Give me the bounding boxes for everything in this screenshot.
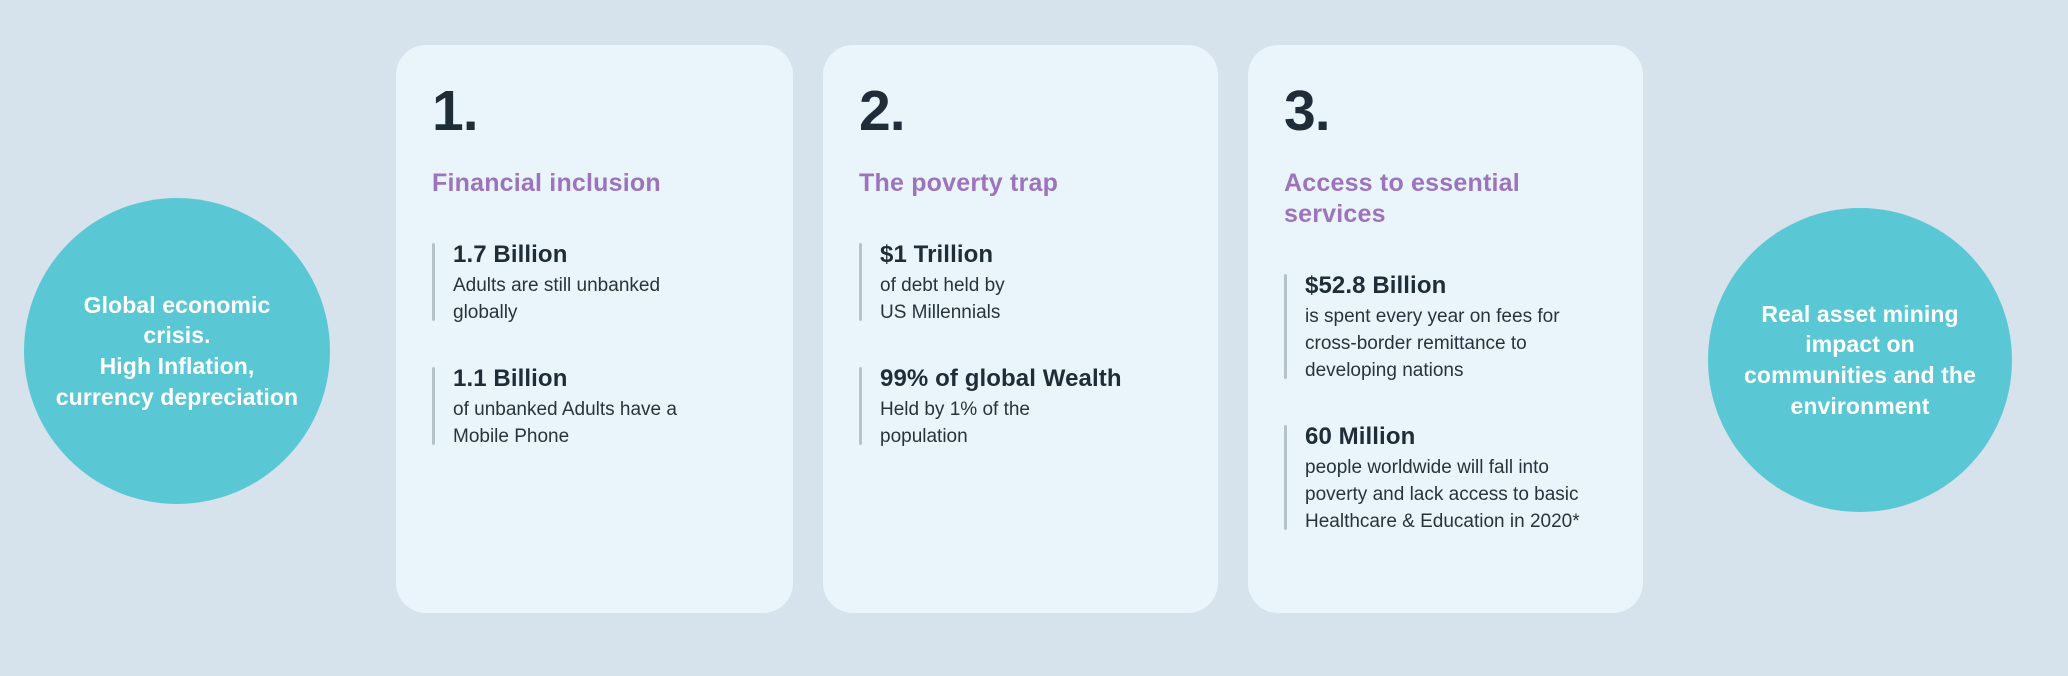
accent-rule bbox=[1284, 274, 1287, 379]
card-2-number: 2. bbox=[859, 83, 1182, 140]
card-1-stat-2-desc: of unbanked Adults have a Mobile Phone bbox=[453, 397, 757, 451]
accent-rule bbox=[859, 243, 862, 321]
problem-card-3[interactable]: 3. Access to essential services $52.8 Bi… bbox=[1248, 45, 1643, 613]
card-3-title: Access to essential services bbox=[1284, 168, 1607, 230]
card-1-stat-1-value: 1.7 Billion bbox=[453, 239, 757, 270]
card-3-stat-2-desc: people worldwide will fall into poverty … bbox=[1305, 455, 1607, 536]
card-3-stat-1-value: $52.8 Billion bbox=[1305, 270, 1607, 301]
card-1-stat-1-desc: Adults are still unbanked globally bbox=[453, 273, 757, 327]
card-3-stat-1: $52.8 Billion is spent every year on fee… bbox=[1284, 270, 1607, 385]
problem-card-2[interactable]: 2. The poverty trap $1 Trillion of debt … bbox=[823, 45, 1218, 613]
problem-card-1[interactable]: 1. Financial inclusion 1.7 Billion Adult… bbox=[396, 45, 793, 613]
card-3-number: 3. bbox=[1284, 83, 1607, 140]
card-2-stat-1-value: $1 Trillion bbox=[880, 239, 1182, 270]
right-circle-text: Real asset mining impact on communities … bbox=[1708, 299, 2012, 421]
accent-rule bbox=[432, 367, 435, 445]
card-3-stat-2: 60 Million people worldwide will fall in… bbox=[1284, 421, 1607, 536]
accent-rule bbox=[1284, 425, 1287, 530]
left-circle-text: Global economic crisis. High Inflation, … bbox=[24, 290, 330, 412]
accent-rule bbox=[859, 367, 862, 445]
right-context-circle: Real asset mining impact on communities … bbox=[1708, 208, 2012, 512]
card-2-stat-2-value: 99% of global Wealth bbox=[880, 363, 1182, 394]
card-1-stat-1: 1.7 Billion Adults are still unbanked gl… bbox=[432, 239, 757, 327]
card-2-stat-1-desc: of debt held by US Millennials bbox=[880, 273, 1182, 327]
card-1-title: Financial inclusion bbox=[432, 168, 757, 199]
accent-rule bbox=[432, 243, 435, 321]
card-1-stat-2: 1.1 Billion of unbanked Adults have a Mo… bbox=[432, 363, 757, 451]
problem-cards-row: 1. Financial inclusion 1.7 Billion Adult… bbox=[396, 45, 1643, 613]
card-3-stat-2-value: 60 Million bbox=[1305, 421, 1607, 452]
card-2-stat-2-desc: Held by 1% of the population bbox=[880, 397, 1182, 451]
infographic-canvas: Global economic crisis. High Inflation, … bbox=[0, 0, 2068, 676]
left-context-circle: Global economic crisis. High Inflation, … bbox=[24, 198, 330, 504]
card-3-stat-1-desc: is spent every year on fees for cross-bo… bbox=[1305, 304, 1607, 385]
card-1-stat-2-value: 1.1 Billion bbox=[453, 363, 757, 394]
card-2-stat-1: $1 Trillion of debt held by US Millennia… bbox=[859, 239, 1182, 327]
card-2-stat-2: 99% of global Wealth Held by 1% of the p… bbox=[859, 363, 1182, 451]
card-1-number: 1. bbox=[432, 83, 757, 140]
card-2-title: The poverty trap bbox=[859, 168, 1182, 199]
